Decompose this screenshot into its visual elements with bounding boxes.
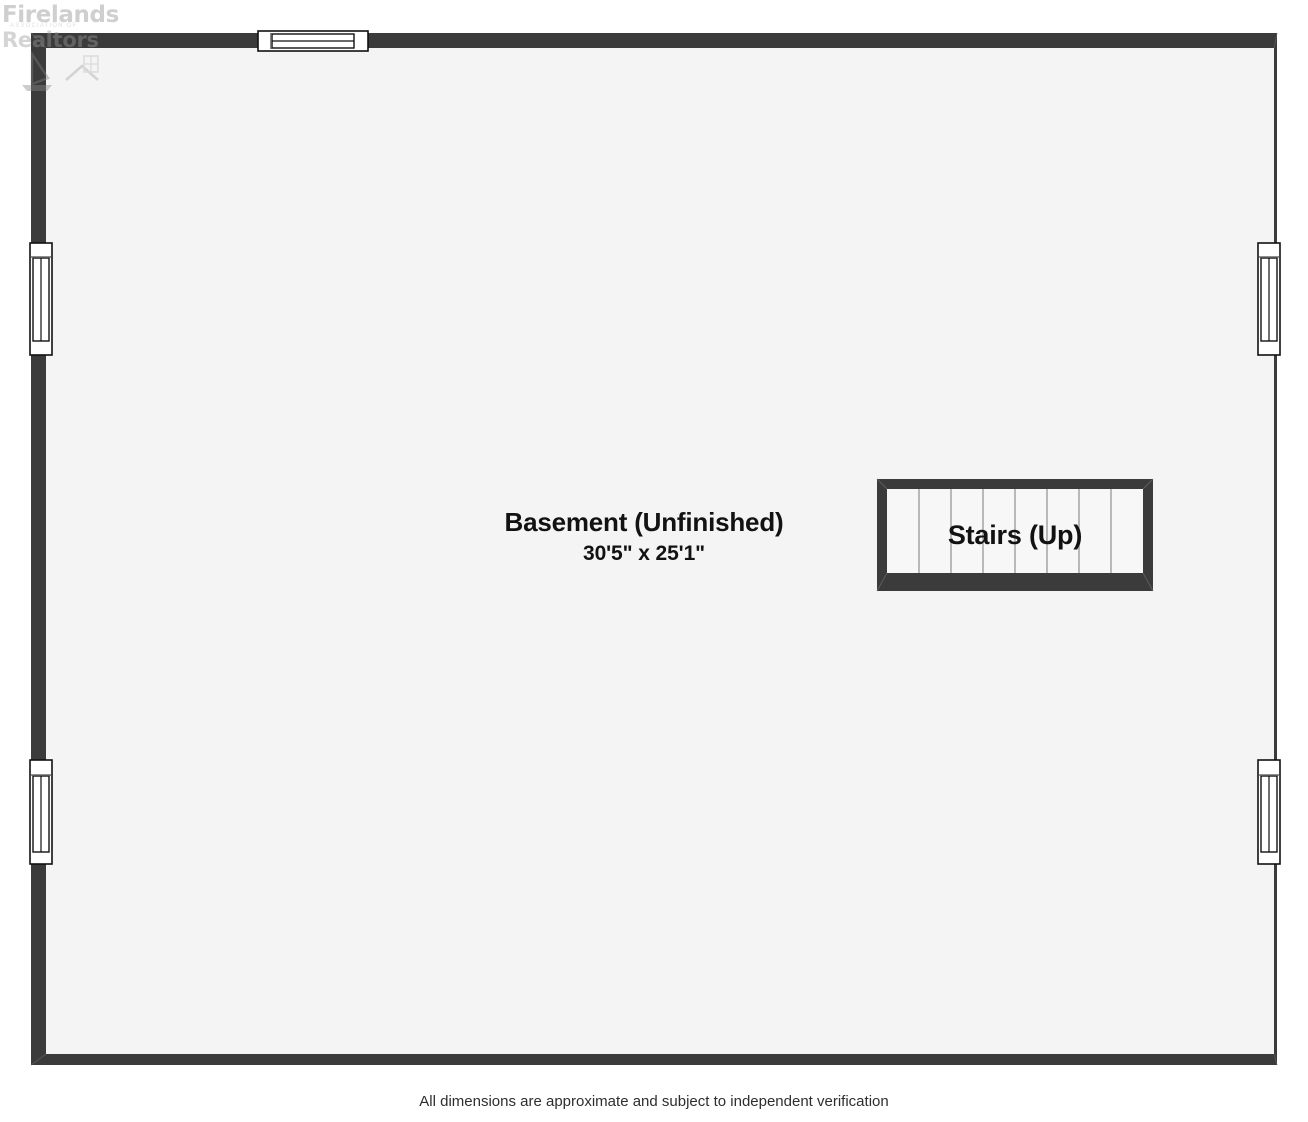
- room-name-basement: Basement (Unfinished): [344, 508, 944, 537]
- wall-right: [1274, 33, 1277, 1065]
- window-left-upper: [30, 243, 52, 355]
- room-name-stairs: Stairs (Up): [865, 520, 1165, 550]
- dimensions-disclaimer: All dimensions are approximate and subje…: [0, 1093, 1308, 1110]
- wall-top: [31, 33, 1277, 48]
- room-dimensions-basement: 30'5" x 25'1": [344, 541, 944, 566]
- room-label-basement: Basement (Unfinished) 30'5" x 25'1": [344, 508, 944, 566]
- window-left-lower: [30, 760, 52, 864]
- window-top: [258, 31, 368, 51]
- window-right-lower: [1258, 760, 1280, 864]
- wall-left: [31, 33, 46, 1065]
- room-label-stairs: Stairs (Up): [865, 520, 1165, 550]
- wall-bottom: [31, 1054, 1277, 1065]
- window-right-upper: [1258, 243, 1280, 355]
